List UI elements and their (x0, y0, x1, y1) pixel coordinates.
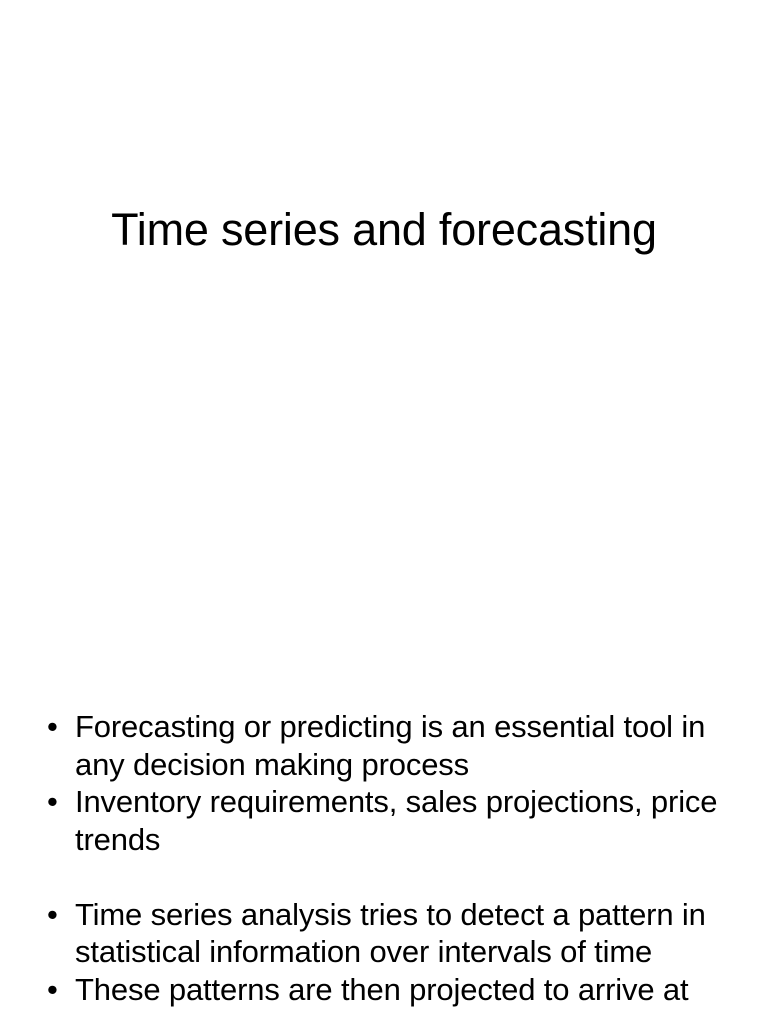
slide-page: Time series and forecasting • Forecastin… (0, 0, 768, 1024)
slide-body-container: • Forecasting or predicting is an essent… (40, 708, 740, 1008)
bullet-point-icon: • (47, 896, 61, 934)
list-item: • These patterns are then projected to a… (40, 971, 740, 1009)
list-item-text: Time series analysis tries to detect a p… (75, 896, 740, 971)
list-item-text: Forecasting or predicting is an essentia… (75, 708, 740, 783)
list-item: • Forecasting or predicting is an essent… (40, 708, 740, 783)
bullet-point-icon: • (47, 971, 61, 1009)
list-item-text: These patterns are then projected to arr… (75, 971, 740, 1009)
bullet-list: • Forecasting or predicting is an essent… (40, 708, 740, 1008)
list-item-spacer (40, 858, 740, 896)
list-item-text: Inventory requirements, sales projection… (75, 783, 740, 858)
list-item: • Time series analysis tries to detect a… (40, 896, 740, 971)
bullet-point-icon: • (47, 708, 61, 746)
list-item: • Inventory requirements, sales projecti… (40, 783, 740, 858)
page-title: Time series and forecasting (111, 204, 657, 256)
slide-title-container: Time series and forecasting (62, 150, 706, 310)
bullet-point-icon: • (47, 783, 61, 821)
